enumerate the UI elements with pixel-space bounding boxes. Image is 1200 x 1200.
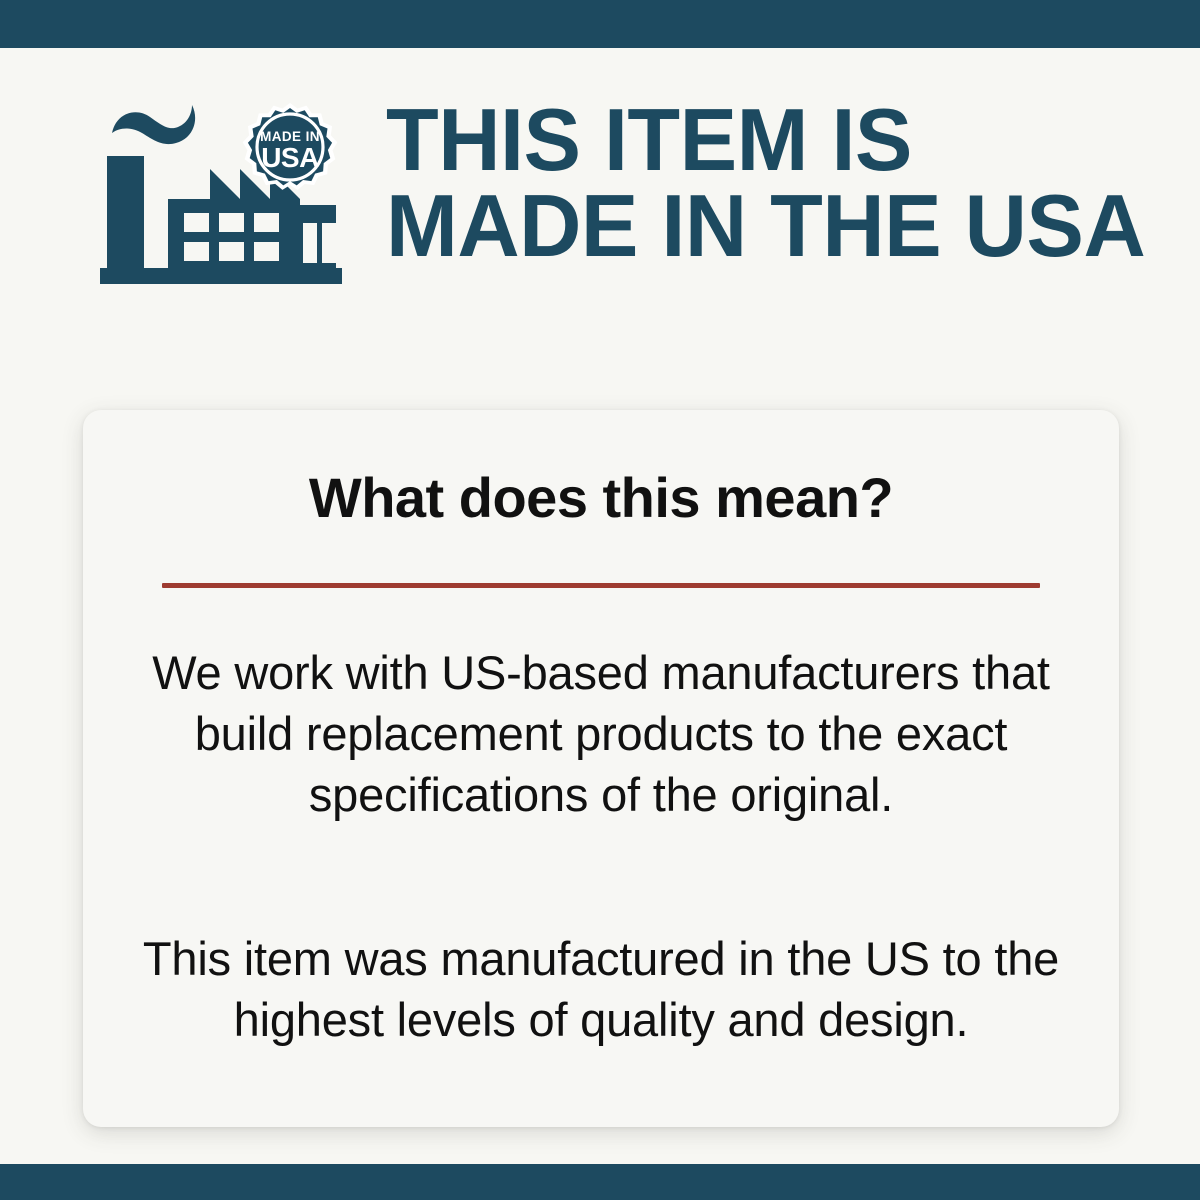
page-title: THIS ITEM IS MADE IN THE USA: [386, 95, 1161, 269]
window: [184, 213, 209, 232]
page-header: MADE IN USA THIS ITEM IS MADE IN THE USA: [100, 95, 1160, 295]
card-paragraph-2: This item was manufactured in the US to …: [123, 928, 1079, 1050]
card-paragraph-1: We work with US-based manufacturers that…: [123, 642, 1079, 825]
factory-icon-svg: MADE IN USA: [100, 101, 342, 287]
window: [184, 242, 209, 261]
window: [254, 242, 279, 261]
tall-window: [322, 223, 336, 263]
info-card: What does this mean? We work with US-bas…: [83, 410, 1119, 1127]
factory-icon: MADE IN USA: [100, 101, 342, 287]
badge-line2: USA: [261, 142, 319, 173]
bottom-brand-bar: [0, 1164, 1200, 1200]
top-brand-bar: [0, 0, 1200, 48]
chimney: [107, 156, 144, 270]
window: [219, 213, 244, 232]
window: [254, 213, 279, 232]
smoke-icon: [112, 105, 195, 144]
window: [219, 242, 244, 261]
tall-window: [303, 223, 317, 263]
card-divider: [162, 583, 1040, 588]
card-heading: What does this mean?: [83, 470, 1119, 526]
page-title-line-2: MADE IN THE USA: [386, 183, 1145, 269]
made-in-usa-badge-icon: MADE IN USA: [243, 103, 338, 190]
ground-bar: [100, 268, 342, 284]
page-title-line-1: THIS ITEM IS: [386, 97, 1145, 183]
page-canvas: MADE IN USA THIS ITEM IS MADE IN THE USA…: [0, 48, 1200, 1164]
